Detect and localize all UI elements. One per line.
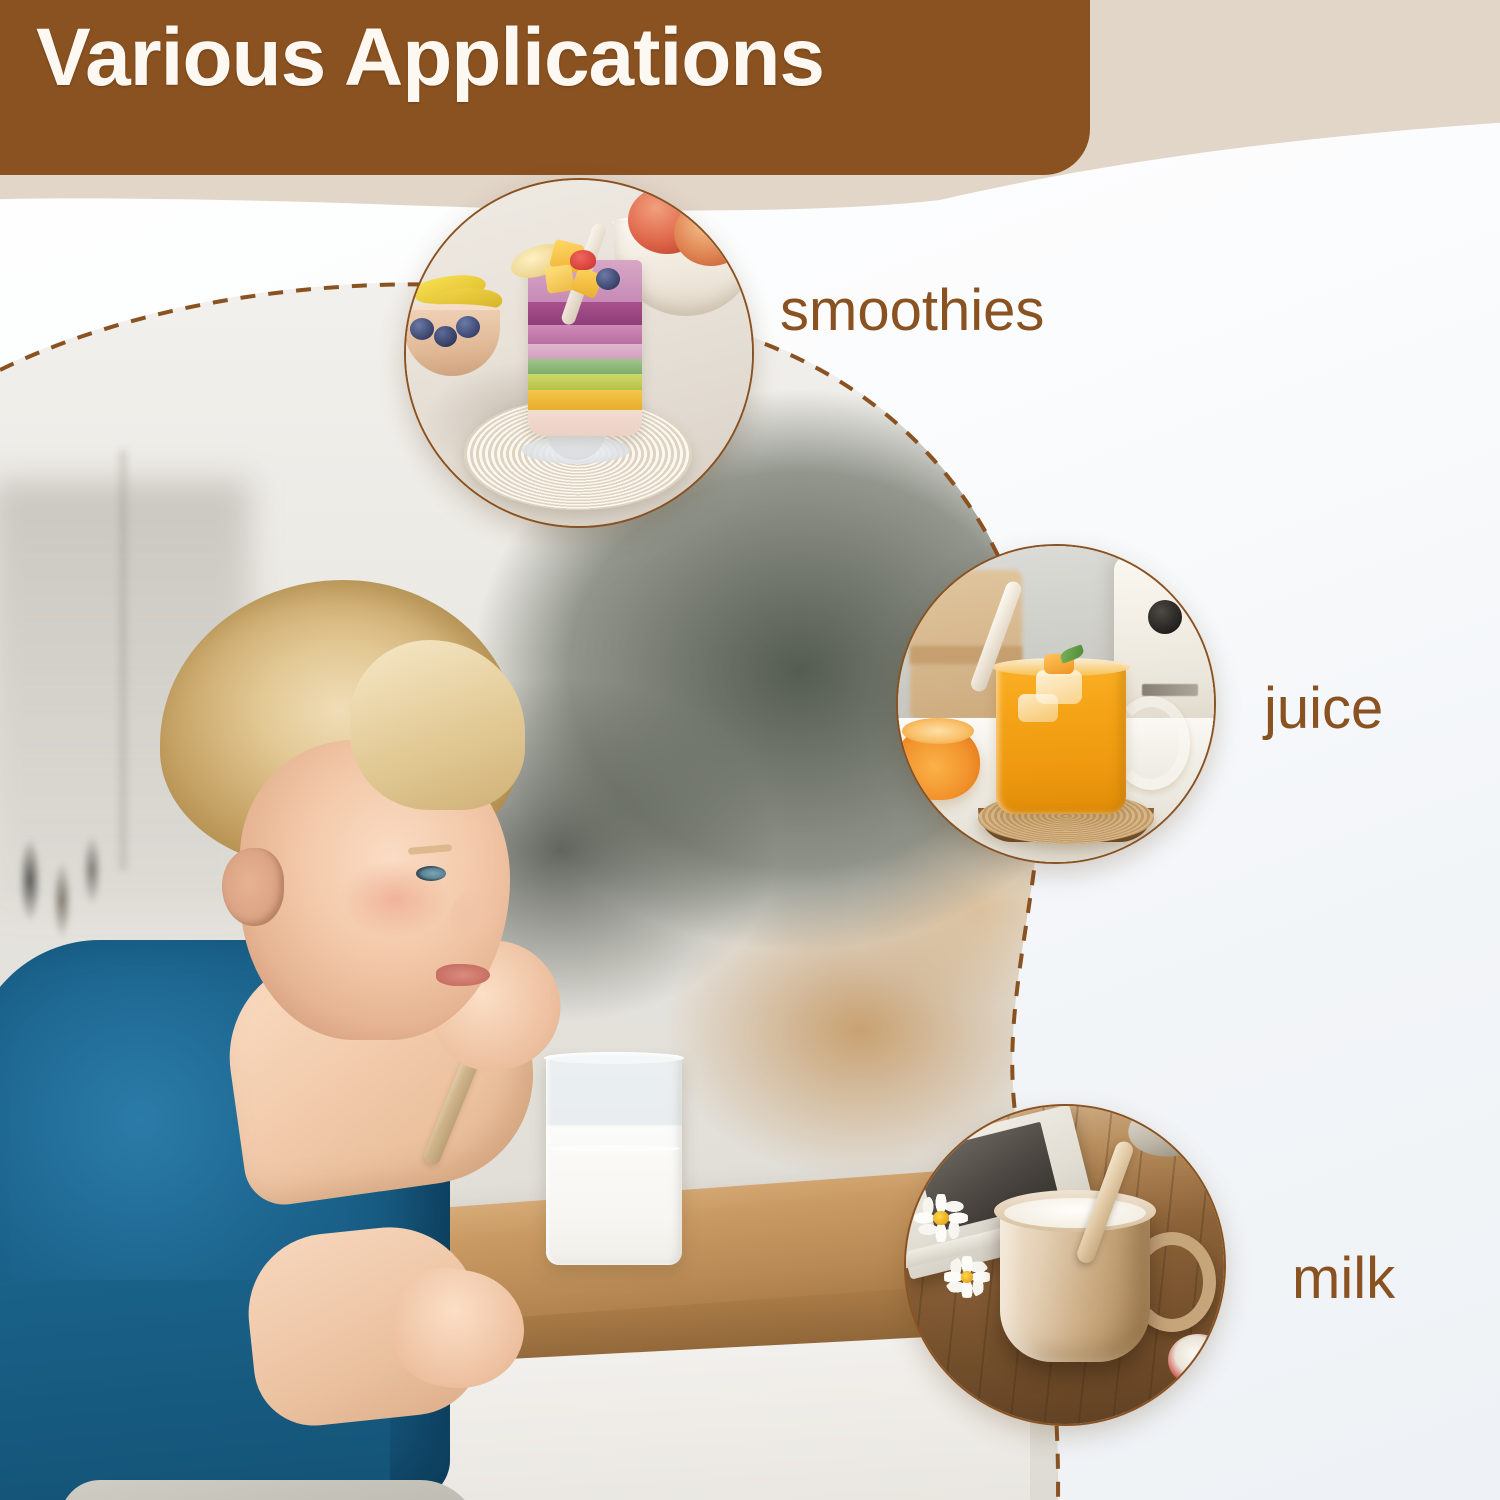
product-infographic: Various Applications <box>0 0 1500 1500</box>
smoothies-label: smoothies <box>780 282 1044 340</box>
milk-photo <box>904 1104 1226 1426</box>
milk-label: milk <box>1292 1250 1395 1308</box>
smoothies-photo <box>404 178 754 528</box>
juice-photo <box>896 544 1216 864</box>
juice-label: juice <box>1264 680 1383 738</box>
page-title: Various Applications <box>36 10 1136 106</box>
